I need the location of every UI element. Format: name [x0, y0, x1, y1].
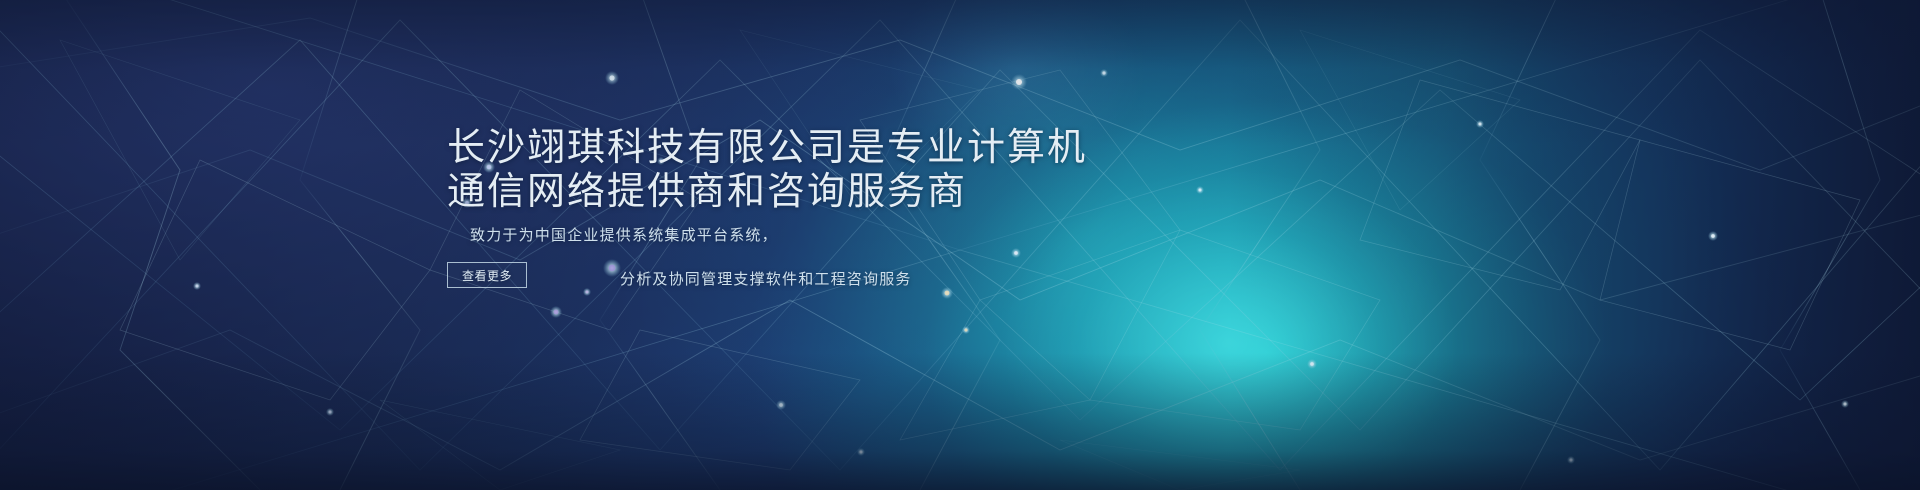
banner-headline: 长沙翊琪科技有限公司是专业计算机 通信网络提供商和咨询服务商 [447, 126, 1087, 214]
view-more-button-label: 查看更多 [462, 267, 512, 284]
view-more-button[interactable]: 查看更多 [447, 262, 527, 288]
subtitle-line-1: 致力于为中国企业提供系统集成平台系统， [470, 214, 940, 258]
headline-line-1: 长沙翊琪科技有限公司是专业计算机 [447, 126, 1087, 170]
hero-banner: 长沙翊琪科技有限公司是专业计算机 通信网络提供商和咨询服务商 致力于为中国企业提… [0, 0, 1920, 490]
subtitle-line-2: 分析及协同管理支撑软件和工程咨询服务 [620, 258, 940, 302]
banner-content: 长沙翊琪科技有限公司是专业计算机 通信网络提供商和咨询服务商 致力于为中国企业提… [0, 0, 1920, 490]
banner-subtitle: 致力于为中国企业提供系统集成平台系统， 分析及协同管理支撑软件和工程咨询服务 [470, 214, 940, 302]
headline-line-2: 通信网络提供商和咨询服务商 [447, 170, 1087, 214]
